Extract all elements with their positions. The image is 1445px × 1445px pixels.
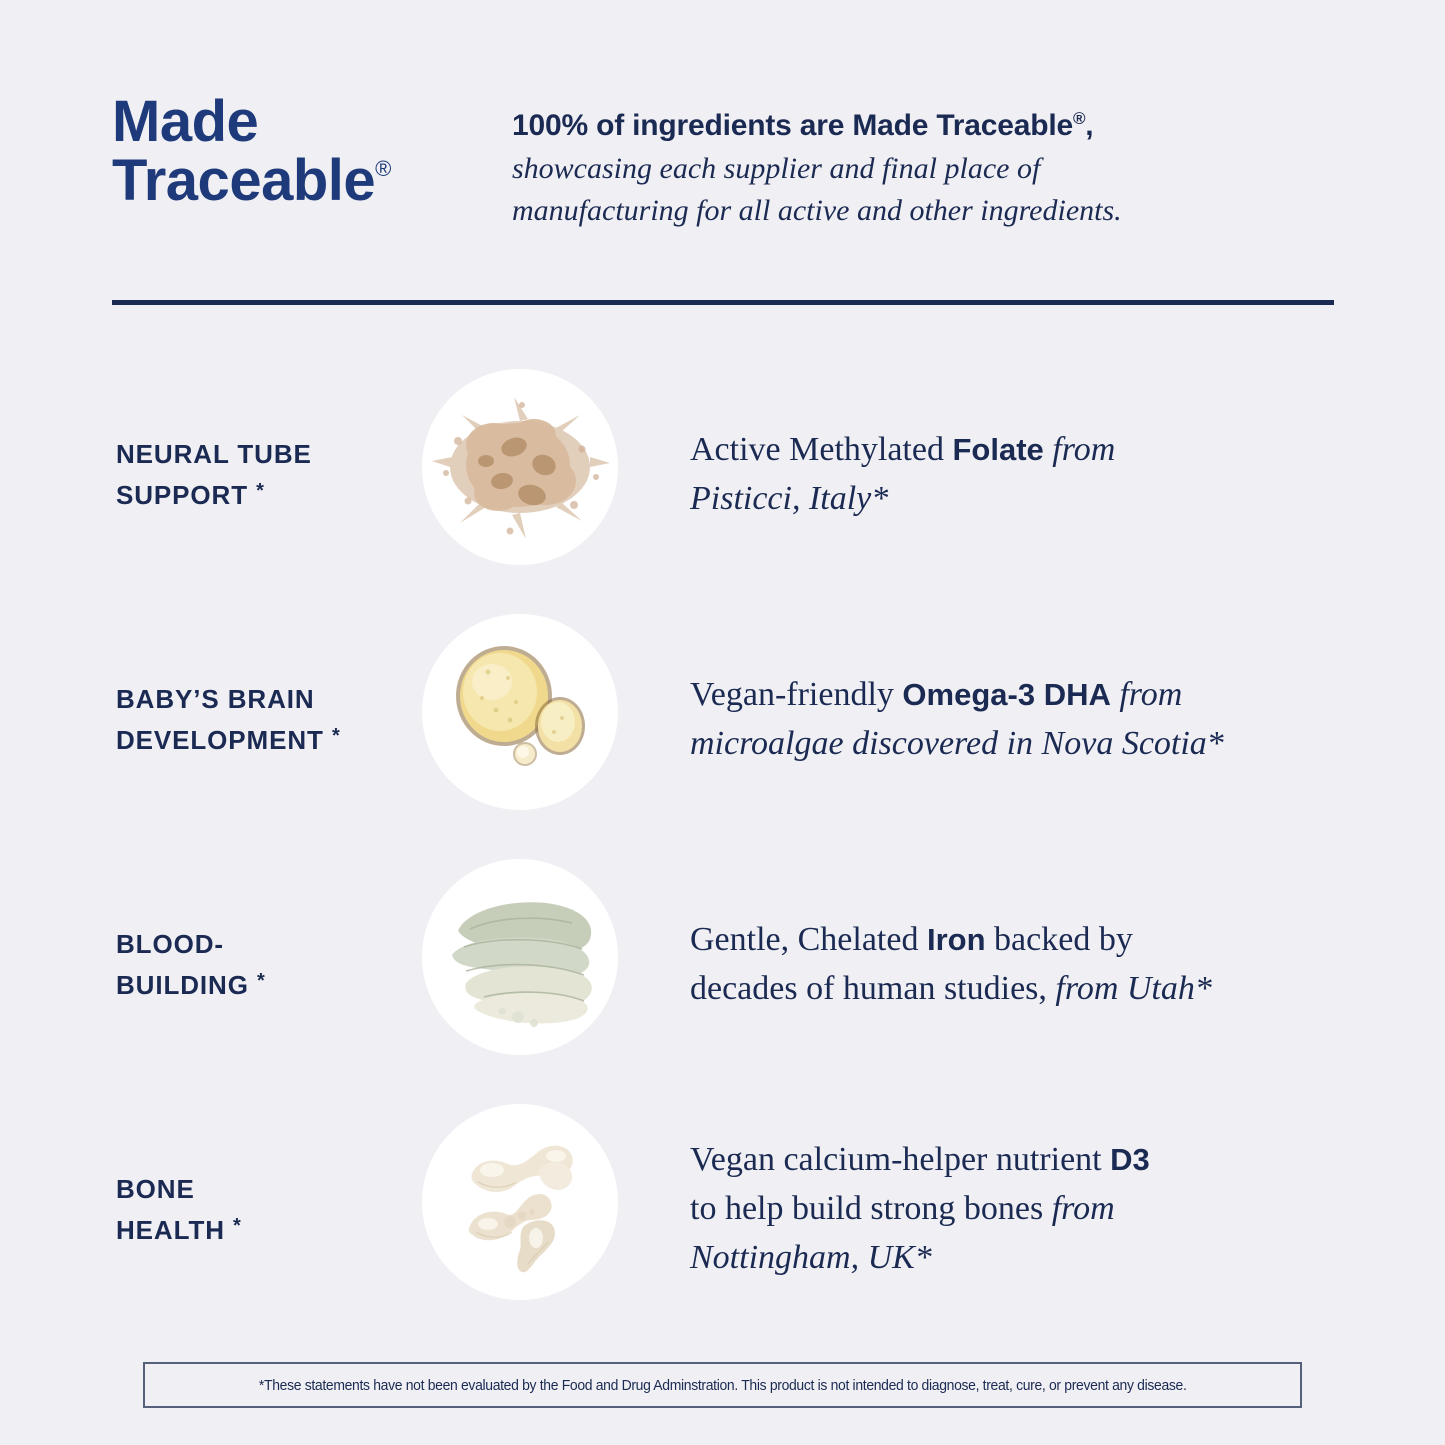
- row-label-neural-tube-support: NEURAL TUBE SUPPORT *: [116, 434, 416, 515]
- headline-block: 100% of ingredients are Made Traceable®,…: [512, 92, 1337, 233]
- row-desc-ingredient: Omega-3 DHA: [902, 677, 1110, 712]
- milky-liquid-splash-icon: [422, 1104, 618, 1300]
- header-divider: [112, 300, 1334, 305]
- registered-mark-small-icon: ®: [1073, 109, 1085, 128]
- row-desc-line-1: Vegan calcium-helper nutrient D3: [690, 1136, 1330, 1185]
- headline-bold-text: 100% of ingredients are Made Traceable: [512, 109, 1073, 142]
- row-description-folate: Active Methylated Folate from Pisticci, …: [690, 426, 1330, 524]
- brand-line-2: Traceable®: [112, 151, 512, 210]
- row-description-iron: Gentle, Chelated Iron backed by decades …: [690, 916, 1330, 1014]
- row-label-blood-building: BLOOD- BUILDING *: [116, 924, 416, 1005]
- cream-smear-icon: [422, 859, 618, 1055]
- row-desc-line-2-italic: from: [1052, 1190, 1115, 1227]
- row-label-line-2: HEALTH *: [116, 1210, 416, 1250]
- row-desc-line-1: Active Methylated Folate from: [690, 426, 1330, 475]
- headline-italic: showcasing each supplier and final place…: [512, 148, 1337, 233]
- row-desc-ingredient: D3: [1110, 1142, 1150, 1177]
- registered-mark-icon: ®: [375, 156, 391, 181]
- ingredient-thumbnail-omega3: [422, 614, 618, 810]
- asterisk-marker: *: [257, 970, 265, 992]
- row-label-line-2-text: HEALTH: [116, 1215, 225, 1245]
- row-desc-pre: Vegan calcium-helper nutrient: [690, 1141, 1110, 1178]
- ingredient-row: BLOOD- BUILDING *: [0, 842, 1445, 1087]
- disclaimer-box: *These statements have not been evaluate…: [143, 1362, 1302, 1408]
- brand-title: Made Traceable®: [112, 92, 512, 210]
- ingredient-row: NEURAL TUBE SUPPORT *: [0, 352, 1445, 597]
- asterisk-marker: *: [256, 480, 264, 502]
- row-label-line-2: DEVELOPMENT *: [116, 720, 416, 760]
- row-label-babys-brain-development: BABY’S BRAIN DEVELOPMENT *: [116, 679, 416, 760]
- headline-italic-line-2: manufacturing for all active and other i…: [512, 190, 1337, 233]
- row-desc-line-3: Nottingham, UK*: [690, 1234, 1330, 1283]
- row-label-line-1: BABY’S BRAIN: [116, 679, 416, 719]
- row-label-line-1: BONE: [116, 1169, 416, 1209]
- ingredient-thumbnail-folate: [422, 369, 618, 565]
- row-label-line-2: SUPPORT *: [116, 475, 416, 515]
- row-desc-post: from: [1111, 676, 1182, 713]
- disclaimer-text: *These statements have not been evaluate…: [259, 1377, 1187, 1394]
- row-desc-ingredient: Iron: [927, 922, 986, 957]
- row-description-d3: Vegan calcium-helper nutrient D3 to help…: [690, 1136, 1330, 1283]
- row-label-line-2-text: BUILDING: [116, 970, 249, 1000]
- row-desc-line-2-pre: decades of human studies,: [690, 970, 1055, 1007]
- ingredient-thumbnail-d3: [422, 1104, 618, 1300]
- asterisk-marker: *: [233, 1215, 241, 1237]
- row-desc-line-2: microalgae discovered in Nova Scotia*: [690, 720, 1330, 769]
- row-desc-post: from: [1044, 431, 1115, 468]
- row-desc-line-2-italic: from Utah*: [1055, 970, 1211, 1007]
- headline-italic-line-1: showcasing each supplier and final place…: [512, 148, 1337, 191]
- row-label-line-1: NEURAL TUBE: [116, 434, 416, 474]
- row-label-line-2-text: SUPPORT: [116, 480, 248, 510]
- brand-line-1: Made: [112, 92, 512, 151]
- made-traceable-infographic: Made Traceable® 100% of ingredients are …: [0, 0, 1445, 1445]
- row-desc-ingredient: Folate: [952, 432, 1043, 467]
- row-desc-pre: Gentle, Chelated: [690, 921, 927, 958]
- header: Made Traceable® 100% of ingredients are …: [112, 92, 1337, 233]
- brand-line-2-text: Traceable: [112, 148, 375, 213]
- ingredient-rows: NEURAL TUBE SUPPORT *: [0, 352, 1445, 1332]
- powder-splat-icon: [422, 369, 618, 565]
- row-desc-line-2: Pisticci, Italy*: [690, 475, 1330, 524]
- row-desc-line-2: decades of human studies, from Utah*: [690, 965, 1330, 1014]
- ingredient-row: BONE HEALTH *: [0, 1087, 1445, 1332]
- row-desc-line-2-pre: to help build strong bones: [690, 1190, 1052, 1227]
- row-label-bone-health: BONE HEALTH *: [116, 1169, 416, 1250]
- ingredient-row: BABY’S BRAIN DEVELOPMENT *: [0, 597, 1445, 842]
- row-label-line-2-text: DEVELOPMENT: [116, 725, 324, 755]
- row-desc-post: backed by: [986, 921, 1133, 958]
- oil-droplets-icon: [422, 614, 618, 810]
- row-description-omega3: Vegan-friendly Omega-3 DHA from microalg…: [690, 671, 1330, 769]
- row-desc-pre: Active Methylated: [690, 431, 952, 468]
- ingredient-thumbnail-iron: [422, 859, 618, 1055]
- row-label-line-2: BUILDING *: [116, 965, 416, 1005]
- headline-bold-comma: ,: [1085, 109, 1093, 142]
- row-desc-line-1: Gentle, Chelated Iron backed by: [690, 916, 1330, 965]
- headline-bold: 100% of ingredients are Made Traceable®,: [512, 106, 1337, 146]
- asterisk-marker: *: [332, 725, 340, 747]
- row-desc-line-1: Vegan-friendly Omega-3 DHA from: [690, 671, 1330, 720]
- row-desc-pre: Vegan-friendly: [690, 676, 902, 713]
- row-desc-line-2: to help build strong bones from: [690, 1185, 1330, 1234]
- row-label-line-1: BLOOD-: [116, 924, 416, 964]
